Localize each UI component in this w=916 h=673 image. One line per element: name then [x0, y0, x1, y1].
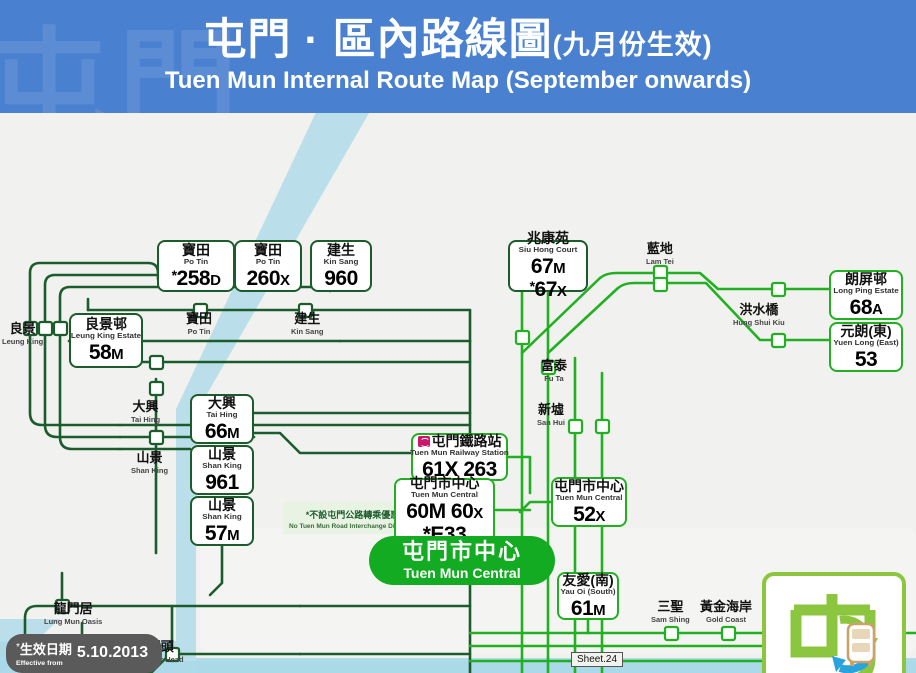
station-name-zh: 藍地 [647, 241, 673, 256]
route-number-suffix: X [280, 272, 290, 289]
route-number: 961 [205, 472, 239, 493]
route-box-dest-en: Tuen Mun Railway Station [410, 449, 509, 456]
route-box-dest-zh: 兆康苑 [527, 231, 569, 245]
route-box-258d[interactable]: 寶田Po Tin*258D [157, 240, 235, 292]
route-number: *258D [172, 268, 221, 289]
route-number-suffix: M [111, 346, 123, 363]
route-box-dest-en: Po Tin [184, 258, 208, 265]
hub-label-zh: 屯門市中心 [402, 540, 522, 563]
station-name-zh: 建生 [294, 311, 320, 326]
route-box-dest-zh: 寶田 [254, 243, 282, 257]
station-name-en: Po Tin [186, 328, 212, 335]
route-box-52x[interactable]: 屯門市中心Tuen Mun Central52X [551, 477, 627, 527]
route-box-61x263[interactable]: 屯門鐵路站Tuen Mun Railway Station61X 263 [411, 433, 508, 481]
page-header: 屯門 屯門 · 區內路線圖(九月份生效) Tuen Mun Internal R… [0, 0, 916, 113]
station-name-zh: 良景 [10, 321, 36, 336]
route-number: 960 [324, 268, 358, 289]
route-number-suffix: X [557, 283, 567, 300]
route-box-dest-zh: 屯門市中心 [410, 476, 480, 490]
tuen-mun-road-interchange-logo: 屯門公路轉車站 Tuen Mun Road Interchange [762, 572, 906, 673]
route-box-dest-zh: 友愛(南) [562, 573, 613, 587]
route-number: 53 [855, 349, 877, 370]
route-asterisk: * [530, 278, 535, 294]
station-label-lam-tei: 藍地Lam Tei [646, 241, 674, 266]
station-name-en: Lung Mun Oasis [44, 618, 102, 625]
route-number-suffix: D [210, 272, 220, 289]
route-box-dest-zh: 良景邨 [85, 317, 127, 331]
route-number: 68A [850, 297, 883, 318]
route-box-dest-en: Tuen Mun Central [411, 491, 478, 498]
station-name-en: Lam Tei [646, 258, 674, 265]
route-number: *67X [530, 279, 567, 300]
station-name-zh: 大興 [133, 399, 159, 414]
page-title-zh: 屯門 · 區內路線圖(九月份生效) [203, 18, 712, 63]
route-box-260x[interactable]: 寶田Po Tin260X [234, 240, 302, 292]
route-box-dest-en: Yuen Long (East) [833, 339, 898, 346]
route-box-dest-en: Tai Hing [207, 411, 238, 418]
route-box-dest-en: Shan King [202, 462, 242, 469]
route-box-57m[interactable]: 山景Shan King57M [190, 496, 254, 546]
effective-date-badge: *生效日期 Effective from 5.10.2013 [6, 634, 162, 673]
route-box-dest-zh: 屯門鐵路站 [418, 434, 502, 448]
route-box-60m60x[interactable]: 屯門市中心Tuen Mun Central60M 60X*E33 [394, 478, 495, 543]
station-label-kin-sang: 建生Kin Sang [291, 311, 324, 336]
route-box-53[interactable]: 元朗(東)Yuen Long (East)53 [829, 322, 903, 372]
route-number-suffix: X [473, 505, 483, 522]
station-name-zh: 龍門居 [54, 601, 93, 616]
route-number: 61M [571, 598, 605, 619]
route-box-dest-zh: 朗屏邨 [845, 272, 887, 286]
route-number-suffix: A [872, 301, 882, 318]
station-name-en: Shan King [131, 467, 168, 474]
station-label-fu-tai: 富泰Fu Ta [541, 358, 567, 383]
station-name-en: Leung King [2, 338, 43, 345]
route-number: 57M [205, 523, 239, 544]
route-box-961[interactable]: 山景Shan King961 [190, 445, 254, 495]
hub-tuen-mun-central[interactable]: 屯門市中心 Tuen Mun Central [371, 538, 553, 583]
effective-date-en: Effective from [16, 660, 72, 666]
station-label-leung-king: 良景Leung King [2, 321, 43, 346]
route-box-dest-en: Leung King Estate [71, 332, 141, 339]
title-zh-main: 屯門 · 區內路線圖 [203, 16, 552, 64]
route-box-dest-zh: 建生 [327, 243, 355, 257]
route-number: 58M [89, 342, 123, 363]
station-label-sam-shing: 三聖Sam Shing [651, 599, 690, 624]
mtr-logo-icon [418, 436, 430, 447]
station-name-zh: 寶田 [186, 311, 212, 326]
station-label-lung-mun-oasis: 龍門居Lung Mun Oasis [44, 601, 102, 626]
route-box-960[interactable]: 建生Kin Sang960 [310, 240, 372, 292]
route-asterisk: * [172, 267, 177, 283]
route-box-dest-en: Long Ping Estate [833, 287, 898, 294]
route-box-dest-en: Kin Sang [324, 258, 359, 265]
station-label-san-hui: 新墟San Hui [537, 402, 565, 427]
station-name-en: Gold Coast [700, 616, 752, 623]
route-box-61m[interactable]: 友愛(南)Yau Oi (South)61M [557, 572, 619, 620]
route-box-58m[interactable]: 良景邨Leung King Estate58M [69, 313, 143, 368]
route-box-67m67x[interactable]: 兆康苑Siu Hong Court67M*67X [508, 240, 588, 292]
route-number: 52X [573, 504, 605, 525]
route-number: 60M 60X [406, 501, 483, 522]
route-map-page: 屯門 屯門 · 區內路線圖(九月份生效) Tuen Mun Internal R… [0, 0, 916, 673]
route-box-dest-en: Tuen Mun Central [556, 494, 623, 501]
route-box-dest-zh: 屯門市中心 [554, 479, 624, 493]
page-title-en: Tuen Mun Internal Route Map (September o… [165, 67, 751, 95]
route-box-dest-en: Yau Oi (South) [560, 588, 615, 595]
route-box-dest-zh: 大興 [208, 396, 236, 410]
station-name-zh: 山景 [137, 450, 163, 465]
route-box-dest-en: Siu Hong Court [519, 246, 578, 253]
route-box-66m[interactable]: 大興Tai Hing66M [190, 394, 254, 444]
station-name-en: Kin Sang [291, 328, 324, 335]
route-number-suffix: X [595, 508, 605, 525]
sheet-reference-marker[interactable]: Sheet.24 [571, 652, 623, 667]
station-name-zh: 新墟 [538, 402, 564, 417]
station-name-en: Hung Shui Kiu [733, 319, 785, 326]
route-number: 260X [246, 268, 289, 289]
station-name-zh: 黃金海岸 [700, 599, 752, 614]
route-box-68a[interactable]: 朗屏邨Long Ping Estate68A [829, 270, 903, 320]
station-label-shan-king: 山景Shan King [131, 450, 168, 475]
map-canvas: .dl { fill:none; stroke:#1c5c2c; stroke-… [0, 113, 916, 673]
route-box-dest-en: Po Tin [256, 258, 280, 265]
effective-date-value: 5.10.2013 [77, 644, 148, 662]
route-number: 67M [531, 256, 565, 277]
station-label-hung-shui-kiu: 洪水橋Hung Shui Kiu [733, 302, 785, 327]
station-name-en: Sam Shing [651, 616, 690, 623]
station-name-en: Tai Hing [131, 416, 160, 423]
hub-label-en: Tuen Mun Central [403, 565, 520, 581]
station-name-zh: 富泰 [541, 358, 567, 373]
station-name-zh: 洪水橋 [739, 302, 778, 317]
route-box-dest-zh: 元朗(東) [840, 324, 891, 338]
route-number-suffix: M [227, 527, 239, 544]
route-number: 66M [205, 421, 239, 442]
title-zh-paren: (九月份生效) [553, 30, 713, 60]
station-label-gold-coast: 黃金海岸Gold Coast [700, 599, 752, 624]
route-number-suffix: M [593, 602, 605, 619]
station-name-en: San Hui [537, 419, 565, 426]
route-box-dest-en: Shan King [202, 513, 242, 520]
route-box-dest-zh: 山景 [208, 498, 236, 512]
logo-mark [774, 582, 894, 673]
route-number-suffix: M [553, 260, 565, 277]
note-zh: *不設屯門公路轉乘優惠 [306, 510, 400, 520]
route-box-dest-zh: 寶田 [182, 243, 210, 257]
bus-icon [848, 624, 874, 666]
station-name-zh: 三聖 [657, 599, 683, 614]
route-number-suffix: M [227, 425, 239, 442]
station-label-tai-hing: 大興Tai Hing [131, 399, 160, 424]
station-name-en: Fu Ta [541, 375, 567, 382]
effective-date-zh: 生效日期 [20, 642, 72, 657]
station-label-po-tin: 寶田Po Tin [186, 311, 212, 336]
route-box-dest-zh: 山景 [208, 447, 236, 461]
